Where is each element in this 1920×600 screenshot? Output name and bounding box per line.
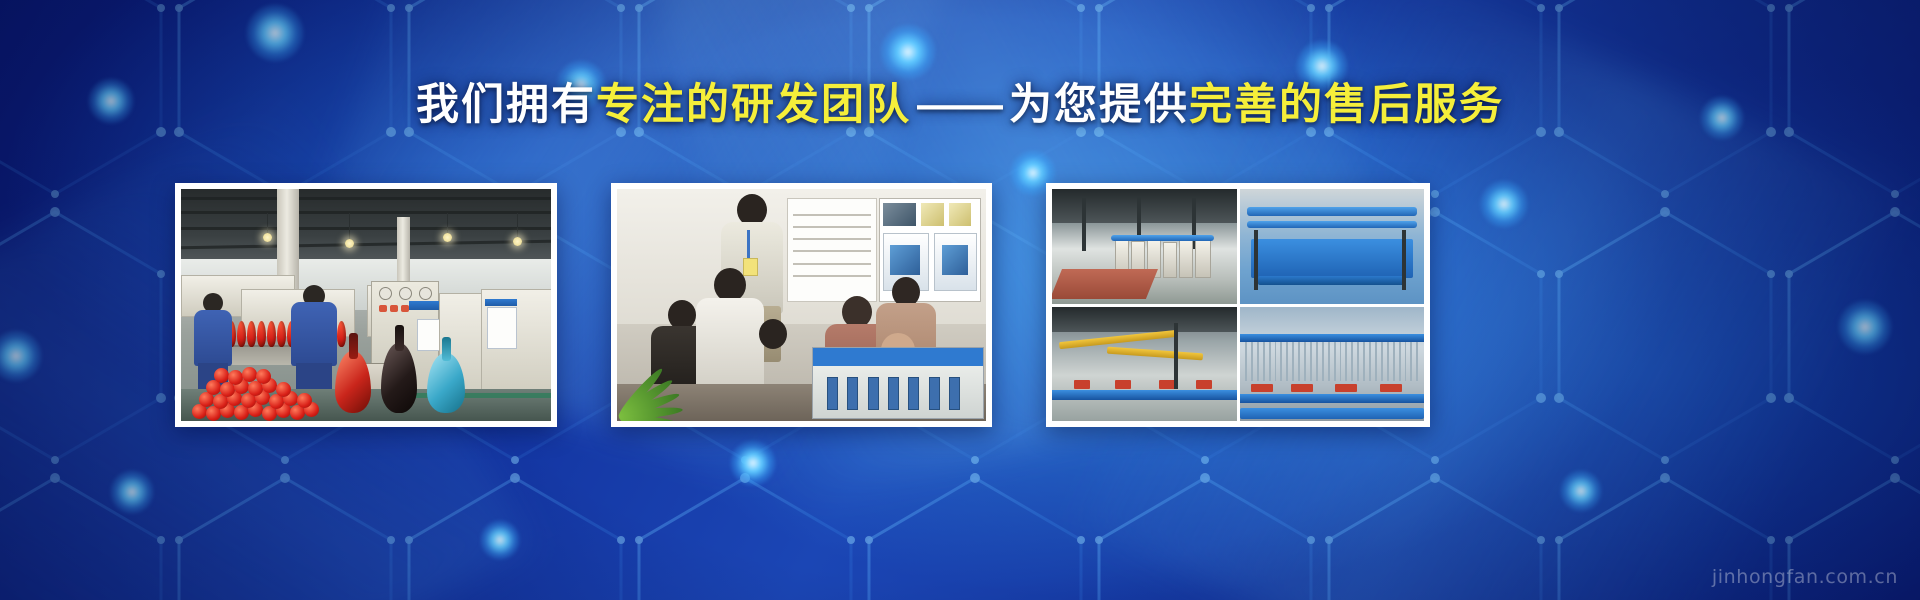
machine-photo-inset [812,347,984,419]
collage-quadrant-assembly [1052,307,1237,422]
headline-segment-4: 完善的售后服务 [1189,81,1504,129]
glow-node [480,520,520,560]
blue-vase [423,331,467,419]
banner: 我们拥有专注的研发团队——为您提供完善的售后服务 [0,0,1920,600]
site-watermark: jinhongfan.com.cn [1712,566,1898,588]
glow-node [1560,470,1602,512]
headline-segment-3: 为您提供 [1009,81,1189,129]
foreground-plant [617,349,703,421]
collage-quadrant-blue-oven [1240,189,1425,304]
headline-segment-1: 我们拥有 [416,81,596,129]
meeting-room-photo[interactable] [611,183,992,427]
page-title: 我们拥有专注的研发团队——为您提供完善的售后服务 [0,84,1920,127]
headline-dash: —— [911,81,1009,129]
factory-equipment-collage-photo[interactable] [1046,183,1430,427]
glow-node [110,470,154,514]
glow-node [730,440,776,486]
production-line-photo[interactable] [175,183,557,427]
collage-quadrant-coating-line [1240,307,1425,422]
black-vase [377,319,421,419]
collage-quadrant-warehouse [1052,189,1237,304]
headline-segment-2: 专注的研发团队 [596,81,911,129]
red-vase [331,327,375,419]
photo-gallery [0,183,1920,415]
glow-node [880,24,936,80]
glow-node [246,4,304,62]
